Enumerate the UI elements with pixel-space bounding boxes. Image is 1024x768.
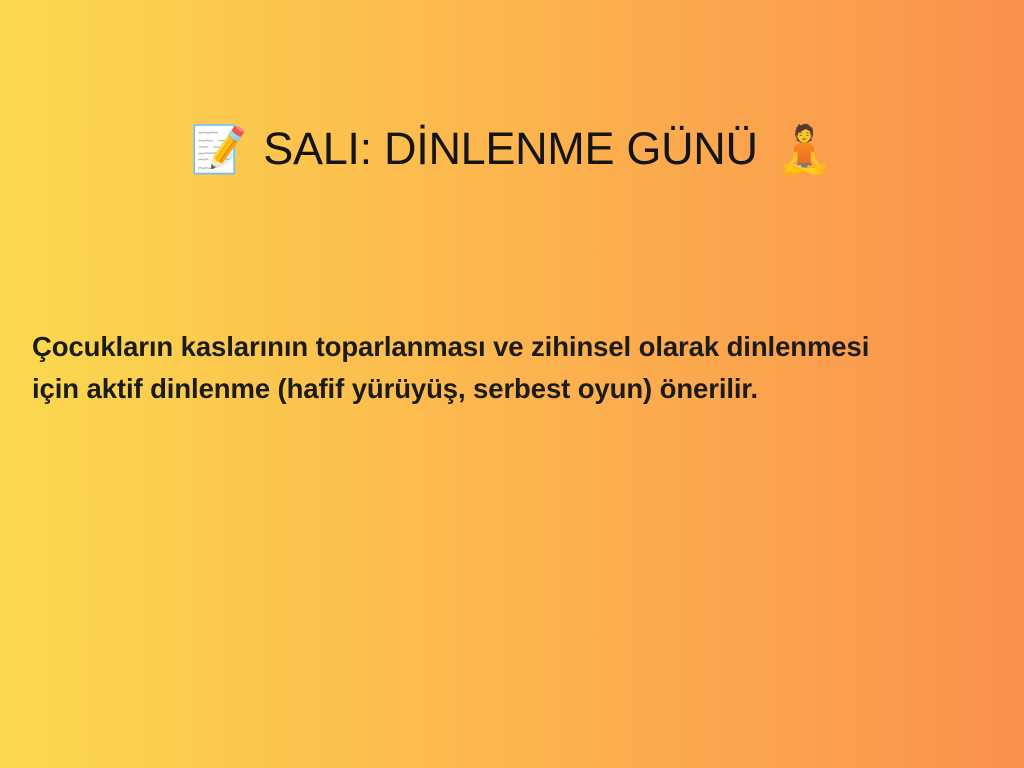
page-title: SALI: DİNLENME GÜNÜ <box>263 125 757 172</box>
slide-body: Çocukların kaslarının toparlanması ve zi… <box>32 326 992 410</box>
slide-canvas: 📝 SALI: DİNLENME GÜNÜ 🧘 Çocukların kasla… <box>0 0 1024 768</box>
slide-title: 📝 SALI: DİNLENME GÜNÜ 🧘 <box>190 125 833 172</box>
person-in-lotus-position-icon: 🧘 <box>776 126 833 172</box>
body-line: Çocukların kaslarının toparlanması ve zi… <box>32 326 992 368</box>
spiral-notepad-icon: 📝 <box>190 126 247 172</box>
body-line: için aktif dinlenme (hafif yürüyüş, serb… <box>32 368 992 410</box>
